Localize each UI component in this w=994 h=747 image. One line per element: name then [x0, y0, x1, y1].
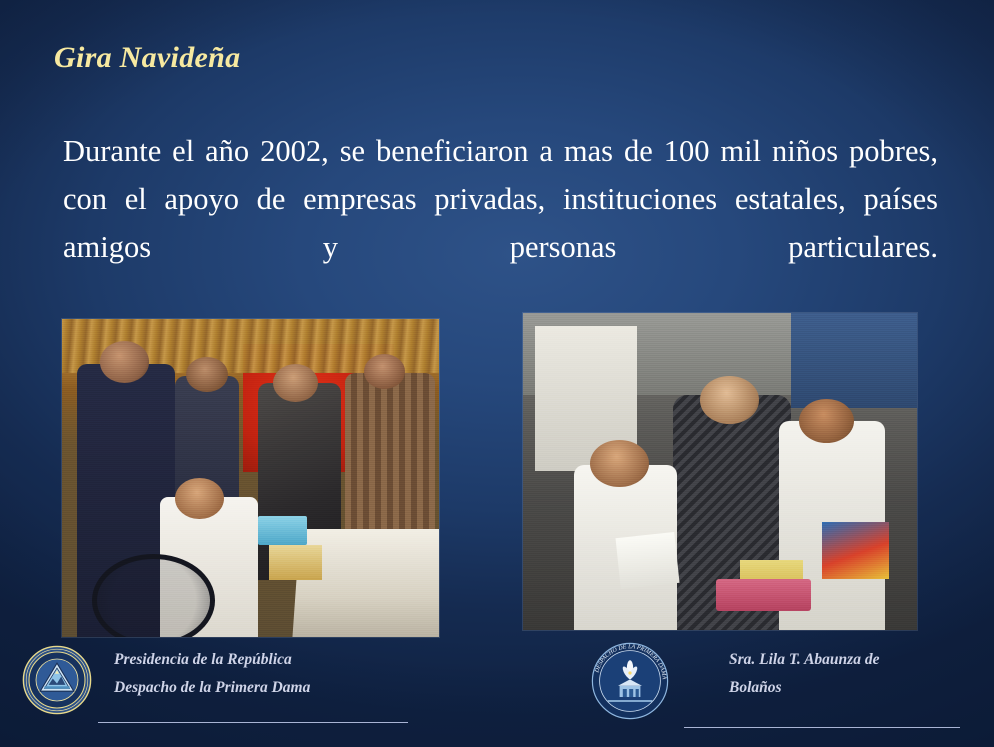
slide-body: Durante el año 2002, se beneficiaron a m… [63, 127, 938, 319]
photo-left-scene [62, 319, 439, 637]
slide-title: Gira Navideña [54, 41, 240, 75]
footer-left: Presidencia de la República Despacho de … [114, 646, 310, 702]
despacho-primera-dama-seal: DESPACHO DE LA PRIMERA DAMA [590, 640, 670, 722]
slide: Gira Navideña Durante el año 2002, se be… [0, 0, 994, 747]
photo-left-film-grain [62, 319, 439, 637]
footer-right-rule [684, 727, 960, 728]
photo-right [523, 313, 917, 630]
footer-right-line-1: Sra. Lila T. Abaunza de [729, 646, 949, 674]
photo-right-scene [523, 313, 917, 630]
footer-left-line-1: Presidencia de la República [114, 646, 310, 674]
footer-left-rule [98, 722, 408, 723]
photo-left [62, 319, 439, 637]
footer-left-line-2: Despacho de la Primera Dama [114, 674, 310, 702]
photo-right-film-grain [523, 313, 917, 630]
footer-right-line-2: Bolaños [729, 674, 949, 702]
slide-body-paragraph: Durante el año 2002, se beneficiaron a m… [63, 127, 938, 319]
footer-right: Sra. Lila T. Abaunza de Bolaños [729, 646, 949, 702]
presidencia-seal [22, 645, 92, 715]
